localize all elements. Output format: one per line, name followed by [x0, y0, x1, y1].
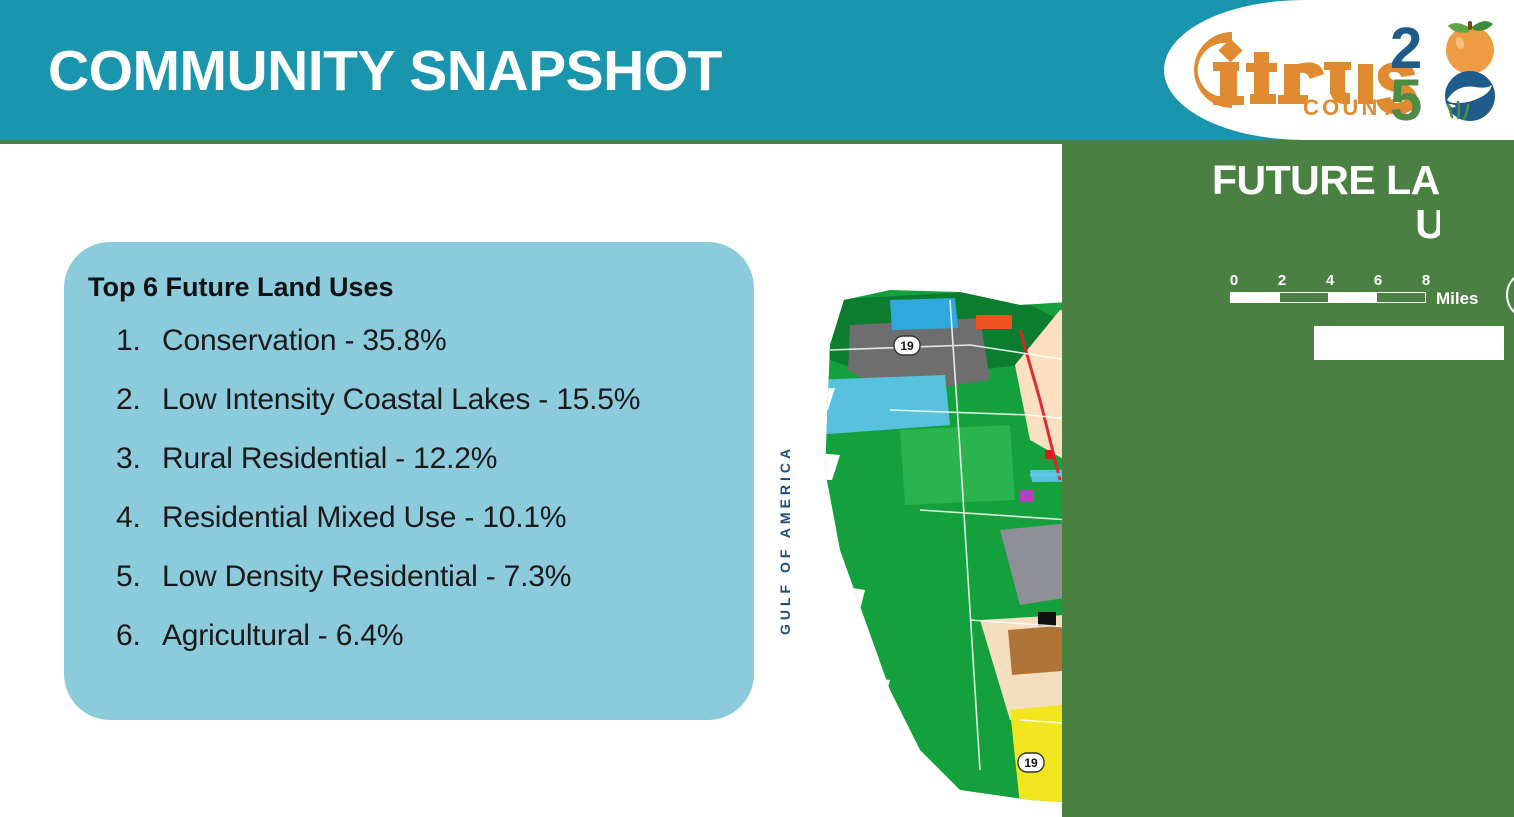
list-item: 2. Low Intensity Coastal Lakes - 15.5%	[116, 383, 736, 417]
citrus-county-2050-logo: COUNTY 2 5	[1170, 14, 1500, 126]
slide-root: COMMUNITY SNAPSHOT	[0, 0, 1514, 817]
list-item-number: 1.	[116, 324, 162, 358]
list-item-number: 6.	[116, 619, 162, 653]
map-legend-box	[1314, 326, 1504, 360]
logo-2050-icon: 2 5	[1388, 18, 1500, 124]
list-item: 1. Conservation - 35.8%	[116, 324, 736, 358]
list-item-label: Low Density Residential - 7.3%	[162, 560, 571, 594]
list-item-label: Agricultural - 6.4%	[162, 619, 403, 653]
list-item-label: Rural Residential - 12.2%	[162, 442, 497, 476]
list-item-label: Residential Mixed Use - 10.1%	[162, 501, 566, 535]
land-use-list: 1. Conservation - 35.8% 2. Low Intensity…	[116, 324, 736, 678]
scale-tick-labels: 0 2 4 6 8	[1230, 272, 1430, 290]
map-title-line2: USE	[1098, 202, 1498, 246]
scale-tick: 4	[1326, 272, 1334, 289]
map-scalebar: 0 2 4 6 8 Miles	[1230, 272, 1500, 306]
list-item: 5. Low Density Residential - 7.3%	[116, 560, 736, 594]
scale-tick: 0	[1230, 272, 1238, 289]
scale-tick: 8	[1422, 272, 1430, 289]
list-item-label: Low Intensity Coastal Lakes - 15.5%	[162, 383, 640, 417]
page-title: COMMUNITY SNAPSHOT	[48, 38, 722, 104]
land-use-card: Top 6 Future Land Uses 1. Conservation -…	[64, 242, 754, 720]
list-item-number: 3.	[116, 442, 162, 476]
list-item: 4. Residential Mixed Use - 10.1%	[116, 501, 736, 535]
logo-digit-5: 5	[1390, 68, 1422, 124]
list-item-label: Conservation - 35.8%	[162, 324, 447, 358]
scale-bar-graphic	[1230, 292, 1426, 303]
route-shield-19-south: 19	[1018, 753, 1044, 772]
svg-text:19: 19	[1024, 756, 1038, 770]
list-item-number: 2.	[116, 383, 162, 417]
map-title: FUTURE LAND USE	[1098, 158, 1498, 247]
map-panel-edge-band	[1440, 144, 1514, 817]
scale-unit-label: Miles	[1436, 289, 1479, 309]
route-shield-19-north: 19	[894, 336, 920, 355]
list-item-number: 4.	[116, 501, 162, 535]
scale-tick: 2	[1278, 272, 1286, 289]
card-title: Top 6 Future Land Uses	[88, 272, 394, 303]
orange-fruit-icon	[1446, 21, 1494, 74]
list-item: 3. Rural Residential - 12.2%	[116, 442, 736, 476]
svg-text:19: 19	[900, 339, 914, 353]
list-item: 6. Agricultural - 6.4%	[116, 619, 736, 653]
list-item-number: 5.	[116, 560, 162, 594]
map-title-line1: FUTURE LAND	[1098, 158, 1498, 202]
manatee-icon	[1445, 71, 1495, 121]
scale-tick: 6	[1374, 272, 1382, 289]
citrus-wordmark-icon: COUNTY	[1170, 22, 1420, 118]
